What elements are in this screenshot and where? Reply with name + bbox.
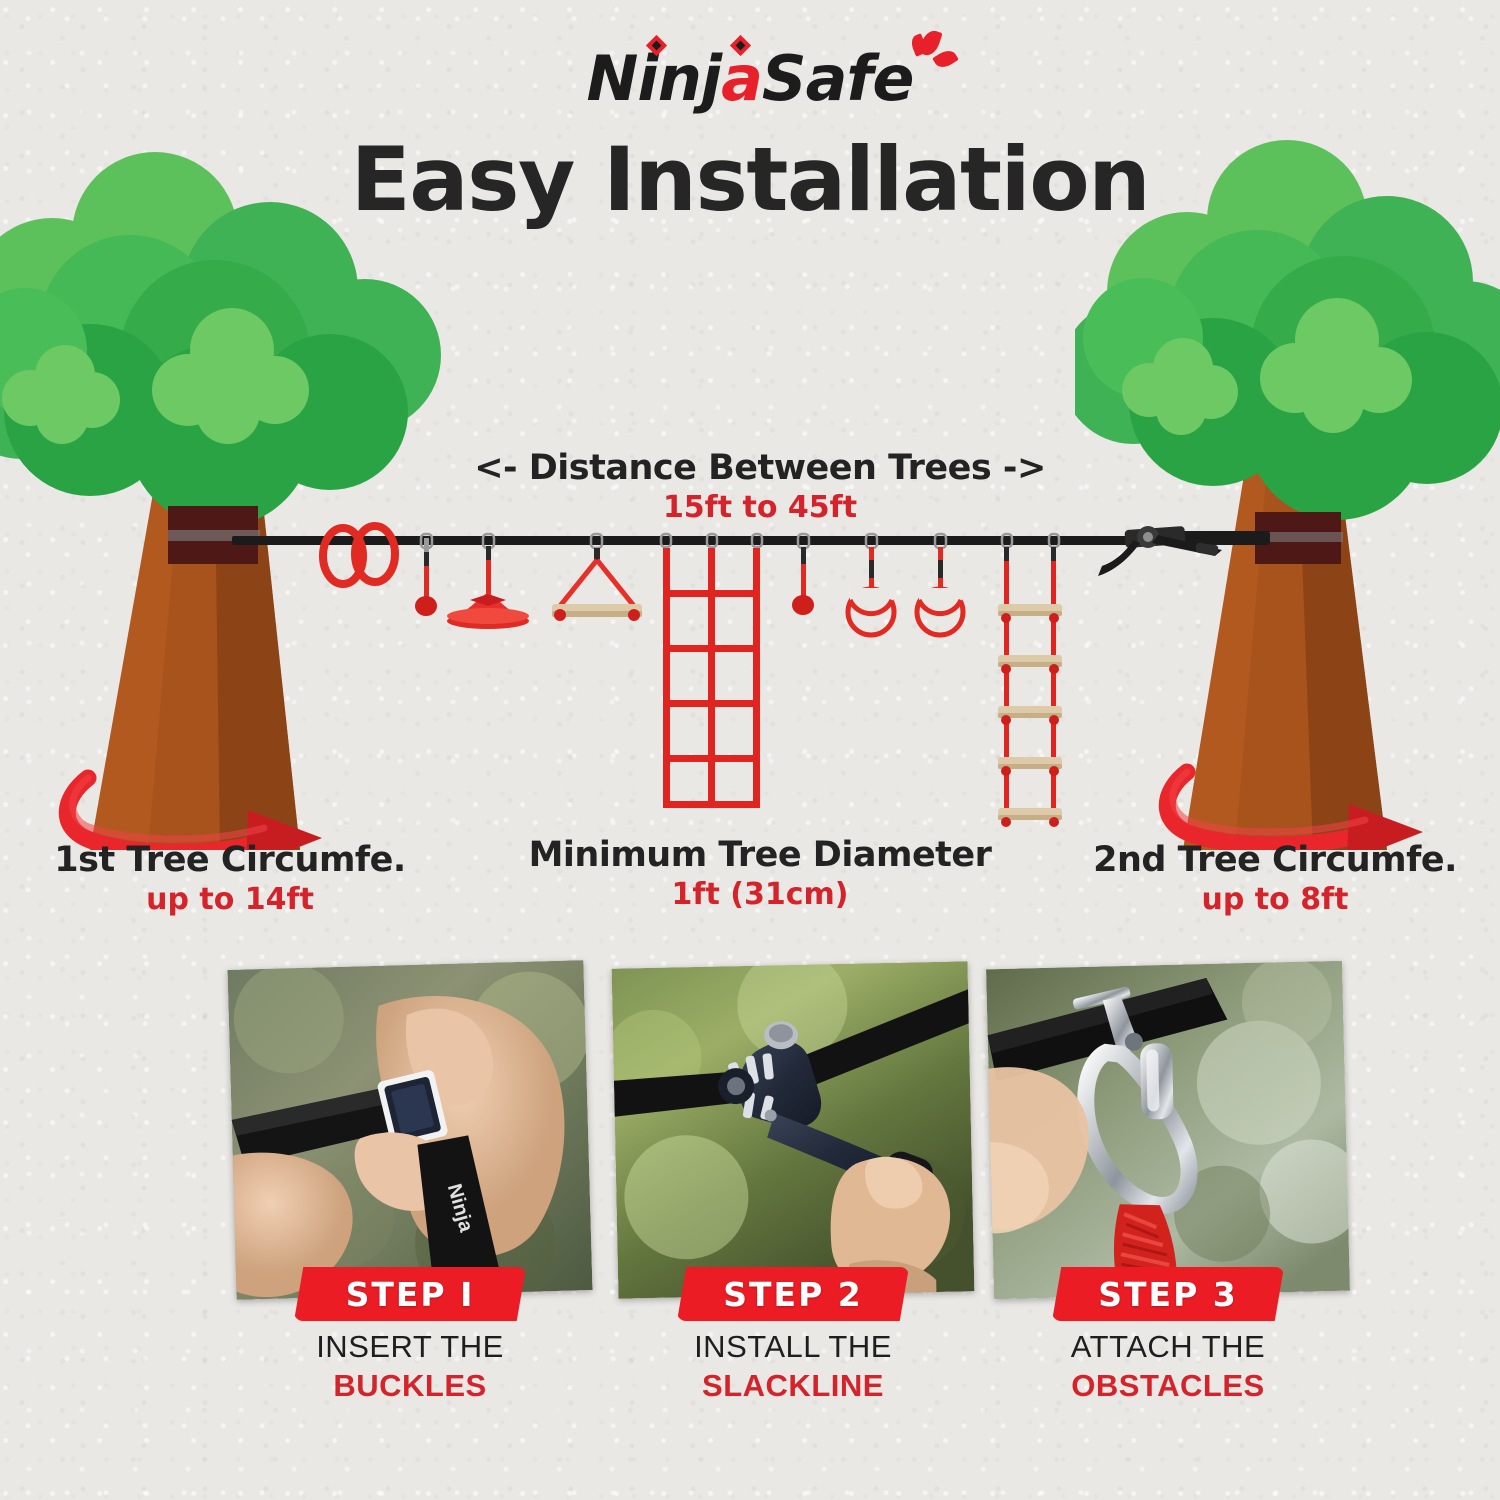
step-2-badge-label: STEP 2	[723, 1275, 862, 1314]
tree-diameter-label-main: Minimum Tree Diameter	[510, 835, 1010, 875]
first-tree-label-sub: up to 14ft	[20, 882, 440, 917]
step-3-photo	[986, 961, 1350, 1300]
page-title: Easy Installation	[0, 128, 1500, 231]
infographic-page: NinjaSafe Easy Installation	[0, 0, 1500, 1500]
step-2-caption: INSTALL THE SLACKLINE	[615, 1329, 971, 1404]
step-1-caption-line2: BUCKLES	[232, 1368, 588, 1404]
obstacle-gymnastic-ring	[848, 534, 894, 635]
obstacle-climbing-net	[661, 534, 762, 808]
second-tree-label-sub: up to 8ft	[1065, 882, 1485, 917]
distance-between-trees-label: <- Distance Between Trees -> 15ft to 45f…	[430, 448, 1090, 525]
step-2-caption-line1: INSTALL THE	[615, 1329, 971, 1365]
obstacle-gymnastic-rings-pair	[323, 526, 395, 584]
step-3-badge-label: STEP 3	[1098, 1275, 1237, 1314]
distance-label-main: <- Distance Between Trees ->	[430, 448, 1090, 488]
obstacle-monkey-bar-disc	[447, 534, 529, 629]
step-3-caption-line2: OBSTACLES	[990, 1368, 1346, 1404]
step-card-3: STEP 3 ATTACH THE OBSTACLES	[990, 965, 1346, 1295]
installation-steps: Ninja STEP I INSERT THE BUCKLES	[0, 960, 1500, 1500]
step-3-caption-line1: ATTACH THE	[990, 1329, 1346, 1365]
step-1-badge-label: STEP I	[346, 1275, 475, 1314]
step-card-2: STEP 2 INSTALL THE SLACKLINE	[615, 965, 971, 1295]
first-tree-circumference-label: 1st Tree Circumfe. up to 14ft	[20, 840, 440, 917]
step-1-photo: Ninja	[227, 960, 592, 1300]
first-tree-label-main: 1st Tree Circumfe.	[20, 840, 440, 880]
step-3-badge: STEP 3	[1052, 1267, 1284, 1321]
step-3-caption: ATTACH THE OBSTACLES	[990, 1329, 1346, 1404]
obstacle-trapeze-swing-bar	[552, 534, 642, 621]
step-1-caption: INSERT THE BUCKLES	[232, 1329, 588, 1404]
step-1-caption-line1: INSERT THE	[232, 1329, 588, 1365]
ratchet-tensioner-icon	[1098, 526, 1270, 576]
second-tree-circumference-label: 2nd Tree Circumfe. up to 8ft	[1065, 840, 1485, 917]
obstacle-gymnastic-ring	[917, 534, 963, 635]
obstacle-hanging-fist-knob	[792, 534, 814, 615]
distance-label-sub: 15ft to 45ft	[430, 490, 1090, 525]
step-card-1: Ninja STEP I INSERT THE BUCKLES	[232, 965, 588, 1295]
step-2-caption-line2: SLACKLINE	[615, 1368, 971, 1404]
minimum-tree-diameter-label: Minimum Tree Diameter 1ft (31cm)	[510, 835, 1010, 912]
step-1-badge: STEP I	[294, 1267, 526, 1321]
obstacle-hanging-fist-knob	[415, 534, 437, 616]
obstacle-rope-ladder	[998, 534, 1062, 827]
step-2-badge: STEP 2	[677, 1267, 909, 1321]
tree-diameter-label-sub: 1ft (31cm)	[510, 877, 1010, 912]
second-tree-label-main: 2nd Tree Circumfe.	[1065, 840, 1485, 880]
step-2-photo	[612, 961, 975, 1298]
